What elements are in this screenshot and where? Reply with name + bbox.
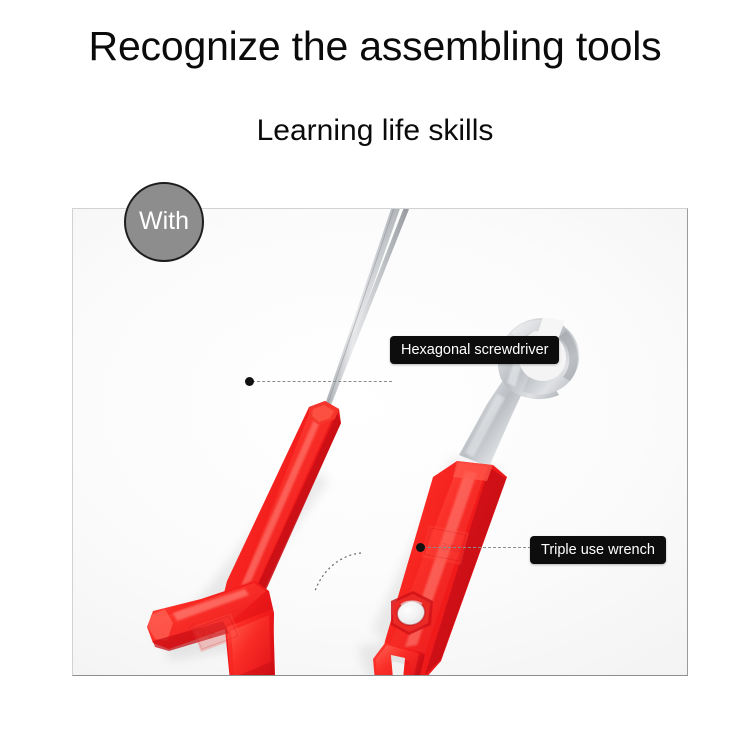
leader-line-triple-use-wrench xyxy=(423,547,531,548)
with-badge-label: With xyxy=(139,209,189,235)
tool-hexagonal-screwdriver: ZiTony xyxy=(147,209,423,675)
wrench-red-body: ZiTony xyxy=(381,461,507,675)
callout-hexagonal-screwdriver[interactable]: Hexagonal screwdriver xyxy=(390,336,559,364)
leader-dot-triple-use-wrench xyxy=(416,543,425,552)
tools-illustration: ZiTony xyxy=(73,209,687,675)
leader-line-hexagonal-screwdriver xyxy=(252,381,392,382)
tool-triple-use-wrench: ZiTony xyxy=(357,317,579,675)
screwdriver-handle-arm xyxy=(223,401,341,611)
leader-dot-hexagonal-screwdriver xyxy=(245,377,254,386)
page-title: Recognize the assembling tools xyxy=(0,22,750,70)
page-root: Recognize the assembling tools Learning … xyxy=(0,0,750,750)
product-photo-frame: ZiTony xyxy=(72,208,688,676)
with-badge-icon: With xyxy=(124,182,204,262)
product-photo: ZiTony xyxy=(73,209,687,675)
callout-triple-use-wrench[interactable]: Triple use wrench xyxy=(530,536,666,564)
page-subtitle: Learning life skills xyxy=(0,112,750,150)
